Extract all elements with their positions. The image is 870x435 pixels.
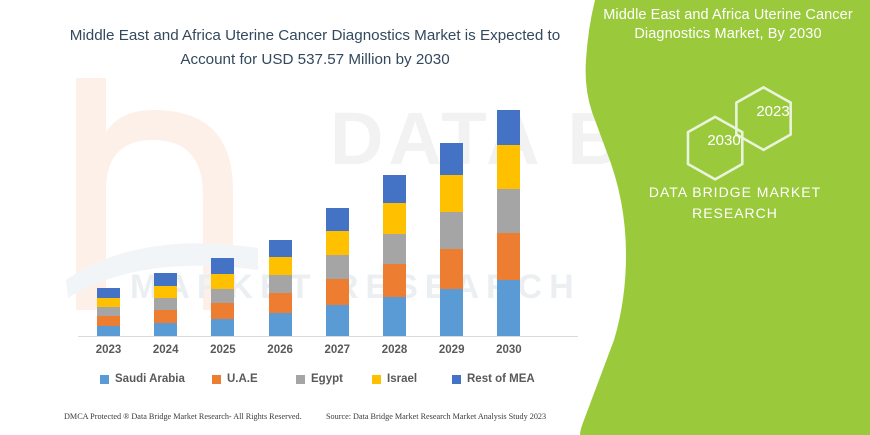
bar-segment <box>326 255 349 279</box>
bar-segment <box>326 279 349 305</box>
bar-segment <box>383 264 406 297</box>
bar-2030 <box>497 110 520 336</box>
bar-segment <box>154 298 177 310</box>
x-axis-label-2030: 2030 <box>479 344 539 356</box>
bar-segment <box>211 258 234 274</box>
x-axis-line <box>78 336 578 337</box>
bar-2029 <box>440 143 463 336</box>
bar-segment <box>211 303 234 319</box>
legend-swatch-icon <box>100 375 109 384</box>
bar-segment <box>383 203 406 234</box>
x-axis-label-2028: 2028 <box>365 344 425 356</box>
legend-item-israel[interactable]: Israel <box>372 373 417 385</box>
bar-2023 <box>97 288 120 336</box>
footer: DMCA Protected ® Data Bridge Market Rese… <box>0 410 620 430</box>
bar-2027 <box>326 208 349 336</box>
legend-item-rest-of-mea[interactable]: Rest of MEA <box>452 373 535 385</box>
bar-segment <box>440 212 463 249</box>
x-axis-label-2024: 2024 <box>136 344 196 356</box>
legend-swatch-icon <box>212 375 221 384</box>
bar-segment <box>97 288 120 298</box>
bar-segment <box>440 143 463 175</box>
legend-item-saudi-arabia[interactable]: Saudi Arabia <box>100 373 185 385</box>
x-axis-label-2029: 2029 <box>422 344 482 356</box>
bar-segment <box>211 319 234 336</box>
stacked-bar-chart: 20232024202520262027202820292030 <box>0 0 600 400</box>
bar-segment <box>269 293 292 313</box>
bar-segment <box>326 305 349 336</box>
bar-segment <box>97 326 120 336</box>
bar-segment <box>440 175 463 212</box>
hexagon-2023-label: 2023 <box>743 103 803 120</box>
bar-segment <box>269 313 292 336</box>
legend-item-egypt[interactable]: Egypt <box>296 373 343 385</box>
bar-2028 <box>383 175 406 336</box>
legend-swatch-icon <box>296 375 305 384</box>
bar-segment <box>154 323 177 336</box>
brand-name-line1: DATA BRIDGE MARKET <box>606 182 864 203</box>
bar-segment <box>326 208 349 231</box>
x-axis-label-2027: 2027 <box>307 344 367 356</box>
bar-segment <box>97 316 120 326</box>
bar-segment <box>154 273 177 286</box>
x-axis-label-2026: 2026 <box>250 344 310 356</box>
bar-segment <box>440 289 463 336</box>
bar-2024 <box>154 273 177 336</box>
legend-label: Israel <box>387 373 417 385</box>
bar-segment <box>326 231 349 255</box>
bar-segment <box>440 249 463 289</box>
bar-segment <box>497 280 520 336</box>
bar-segment <box>211 289 234 303</box>
bar-segment <box>97 307 120 316</box>
bar-segment <box>497 189 520 233</box>
hexagon-2030-label: 2030 <box>694 132 754 149</box>
bar-segment <box>383 234 406 264</box>
bar-segment <box>269 257 292 275</box>
bar-segment <box>211 274 234 289</box>
bar-segment <box>154 286 177 298</box>
bar-segment <box>497 110 520 145</box>
legend-swatch-icon <box>452 375 461 384</box>
footer-copyright: DMCA Protected ® Data Bridge Market Rese… <box>64 412 302 421</box>
x-axis-label-2023: 2023 <box>79 344 139 356</box>
bar-segment <box>383 175 406 203</box>
bar-segment <box>497 145 520 189</box>
panel-title: Middle East and Africa Uterine Cancer Di… <box>592 6 864 44</box>
x-axis-label-2025: 2025 <box>193 344 253 356</box>
legend-label: Saudi Arabia <box>115 373 185 385</box>
legend-label: U.A.E <box>227 373 258 385</box>
bar-segment <box>497 233 520 280</box>
bar-segment <box>269 275 292 293</box>
bar-2026 <box>269 240 292 336</box>
infographic-canvas: DATA BRIDGE MARKET RESEARCH Middle East … <box>0 0 870 435</box>
legend-item-u-a-e[interactable]: U.A.E <box>212 373 258 385</box>
footer-source: Source: Data Bridge Market Research Mark… <box>326 412 546 421</box>
legend-label: Rest of MEA <box>467 373 535 385</box>
chart-legend: Saudi ArabiaU.A.EEgyptIsraelRest of MEA <box>100 370 570 388</box>
legend-label: Egypt <box>311 373 343 385</box>
bar-segment <box>383 297 406 336</box>
bar-segment <box>154 310 177 323</box>
brand-name-line2: RESEARCH <box>606 203 864 224</box>
brand-name: DATA BRIDGE MARKET RESEARCH <box>606 182 864 224</box>
bar-2025 <box>211 258 234 336</box>
bar-segment <box>97 298 120 307</box>
bar-segment <box>269 240 292 257</box>
legend-swatch-icon <box>372 375 381 384</box>
